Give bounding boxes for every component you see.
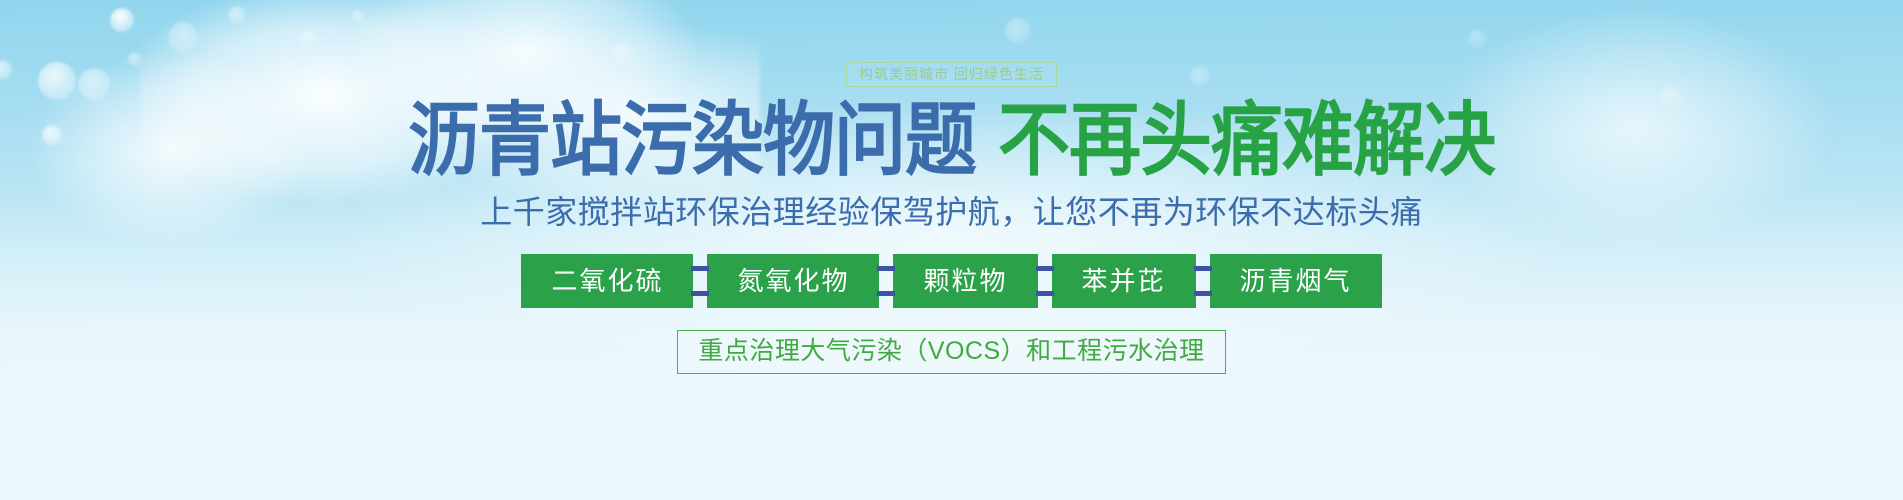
footer-note-box: 重点治理大气污染（VOCS）和工程污水治理 — [677, 330, 1225, 374]
tag-separator — [1038, 254, 1052, 308]
tag-separator — [879, 254, 893, 308]
tag-item-nitrogen-oxides[interactable]: 氮氧化物 — [707, 254, 879, 308]
tag-separator — [693, 254, 707, 308]
tag-item-benzopyrene[interactable]: 苯并芘 — [1052, 254, 1196, 308]
page-title: 沥青站污染物问题不再头痛难解决 — [408, 101, 1495, 182]
headline-green-text: 不再头痛难解决 — [998, 97, 1495, 187]
headline-blue-text: 沥青站污染物问题 — [408, 97, 976, 187]
banner-subtitle: 上千家搅拌站环保治理经验保驾护航，让您不再为环保不达标头痛 — [480, 195, 1423, 230]
hero-banner: 构筑美丽城市 回归绿色生活 沥青站污染物问题不再头痛难解决 上千家搅拌站环保治理… — [0, 0, 1903, 500]
tagline-pill: 构筑美丽城市 回归绿色生活 — [846, 62, 1057, 87]
tag-separator — [1196, 254, 1210, 308]
tag-item-particulates[interactable]: 颗粒物 — [893, 254, 1037, 308]
tag-item-asphalt-fume[interactable]: 沥青烟气 — [1210, 254, 1382, 308]
tag-item-sulfur-dioxide[interactable]: 二氧化硫 — [521, 254, 693, 308]
pollutant-tag-strip: 二氧化硫 氮氧化物 颗粒物 苯并芘 沥青烟气 — [521, 254, 1381, 308]
banner-content: 构筑美丽城市 回归绿色生活 沥青站污染物问题不再头痛难解决 上千家搅拌站环保治理… — [0, 0, 1903, 500]
